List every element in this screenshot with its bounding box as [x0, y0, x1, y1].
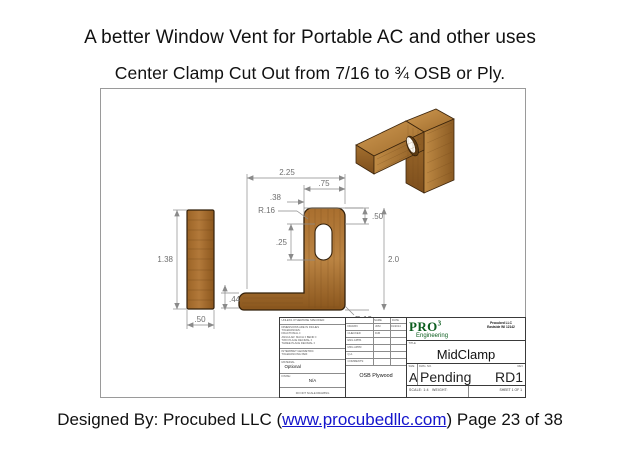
page-subtitle: Center Clamp Cut Out from 7/16 to ¾ OSB …: [0, 63, 620, 84]
material-value: Optional: [282, 364, 344, 370]
dim-leg-thickness: .44: [229, 295, 241, 304]
interpret-note-2: TOLERANCING PER:: [282, 353, 344, 356]
drawing-title-block: UNLESS OTHERWISE SPECIFIED: DIMENSIONS A…: [279, 317, 526, 398]
comment-value: OSB Plywood: [348, 373, 405, 380]
engineering-drawing-frame: 2.25 .75 .38 .50 2.0 .25 R.16 R.13 Typ. …: [100, 88, 526, 398]
dwg-value: Pending: [420, 369, 471, 387]
notes-header: UNLESS OTHERWISE SPECIFIED:: [282, 319, 344, 322]
drawing-id-row: SIZE DWG. NO. REV A Pending RD1: [407, 364, 525, 386]
approval-row-label: DRAWN: [348, 325, 358, 328]
dim-top-thickness: .50: [372, 212, 384, 221]
finish-value: N/A: [282, 378, 344, 384]
dim-tab-width: .75: [318, 179, 330, 188]
drawing-title-row: TITLE MidClamp: [407, 340, 525, 364]
rev-value: RD1: [495, 369, 523, 387]
approval-row-label: ENG APPR.: [348, 339, 363, 342]
company-block: Procubed LLC Eastside WI 12142: [479, 321, 523, 329]
approval-row-name: DJR: [375, 332, 380, 335]
col-header-date: DATE: [392, 319, 399, 322]
logo-exponent: 3: [438, 320, 442, 328]
weight-label: WEIGHT:: [432, 388, 448, 392]
approval-row-date: 01/2014: [391, 325, 401, 328]
dim-side-width: .50: [194, 315, 206, 324]
approval-row-label: COMMENTS:: [348, 360, 364, 363]
page-title: A better Window Vent for Portable AC and…: [0, 27, 620, 49]
company-line-2: Eastside WI 12142: [479, 325, 523, 329]
approval-row-label: MFG APPR.: [348, 346, 363, 349]
dim-overall-height: 2.0: [388, 255, 400, 264]
dim-side-height: 1.38: [157, 255, 173, 264]
scale-label: SCALE: 1:4: [409, 388, 429, 392]
col-header-name: NAME: [374, 319, 382, 322]
side-view-part: [187, 210, 214, 309]
approval-row-label: Q.A.: [348, 353, 353, 356]
dim-slot-height: .25: [276, 238, 288, 247]
drawing-scale-row: SCALE: 1:4 WEIGHT: SHEET 1 OF 1: [407, 386, 525, 397]
note-5: THREE PLACE DECIMAL ±: [282, 342, 344, 345]
dim-overall-width: 2.25: [279, 168, 295, 177]
dim-slot-offset: .38: [270, 193, 282, 202]
title-label: TITLE: [409, 342, 416, 345]
approval-row-label: CHECKED: [348, 332, 361, 335]
slide-footer: Designed By: Procubed LLC (www.procubedl…: [0, 410, 620, 430]
title-block-identification-column: PRO3 Engineering Procubed LLC Eastside W…: [407, 318, 525, 397]
pro3-logo: PRO3 Engineering: [409, 319, 473, 339]
logo-name: PRO: [409, 319, 438, 334]
do-not-scale-note: DO NOT SCALE DRAWING: [282, 392, 344, 395]
slide-root: A better Window Vent for Portable AC and…: [0, 0, 620, 465]
title-block-notes-column: UNLESS OTHERWISE SPECIFIED: DIMENSIONS A…: [280, 318, 346, 397]
drawing-title-value: MidClamp: [407, 347, 525, 363]
size-label: SIZE: [409, 365, 415, 368]
dim-fillet-radius: R.16: [258, 206, 275, 215]
title-block-approvals-column: NAME DATE DRAWN JDM 01/2014 CHECKED DJR …: [346, 318, 407, 397]
footer-suffix: ) Page 23 of 38: [447, 410, 563, 429]
rev-label: REV: [517, 365, 523, 368]
sheet-label: SHEET 1 OF 1: [499, 388, 522, 392]
front-profile-part: [239, 208, 345, 310]
dwg-label: DWG. NO.: [419, 365, 432, 368]
procubed-website-link[interactable]: www.procubedllc.com: [282, 410, 446, 429]
approval-row-name: JDM: [375, 325, 381, 328]
footer-prefix: Designed By: Procubed LLC (: [57, 410, 282, 429]
